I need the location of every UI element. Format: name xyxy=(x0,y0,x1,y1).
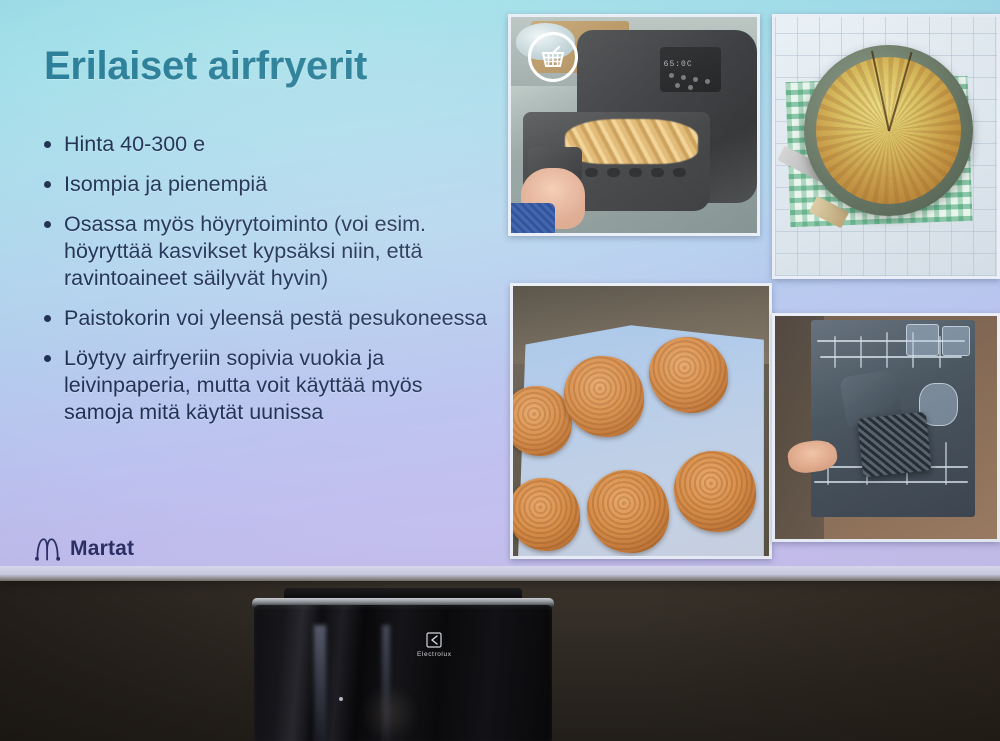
list-item: Löytyy airfryeriin sopivia vuokia ja lei… xyxy=(38,345,490,426)
electrolux-appliance: Electrolux xyxy=(248,588,558,741)
basket-icon xyxy=(528,32,578,82)
list-item: Hinta 40-300 e xyxy=(38,131,490,158)
air-fryer-with-fries-photo: 65:0C xyxy=(508,14,760,236)
martat-monogram-icon xyxy=(33,535,63,563)
basket-in-dishwasher-photo xyxy=(772,313,1000,542)
martat-logo: Martat xyxy=(33,535,134,563)
list-item: Osassa myös höyrytoiminto (voi esim. höy… xyxy=(38,211,490,292)
list-item: Paistokorin voi yleensä pestä pesukonees… xyxy=(38,305,490,332)
bullet-list: Hinta 40-300 e Isompia ja pienempiä Osas… xyxy=(38,131,490,439)
electrolux-logo-icon xyxy=(426,632,442,648)
electrolux-brand-text: Electrolux xyxy=(417,651,452,658)
martat-logo-text: Martat xyxy=(70,537,134,561)
screen-bottom-edge xyxy=(0,566,1000,581)
baked-frittata-photo xyxy=(772,14,1000,279)
electrolux-branding: Electrolux xyxy=(417,632,452,658)
list-item: Isompia ja pienempiä xyxy=(38,171,490,198)
page-title: Erilaiset airfryerit xyxy=(44,44,367,89)
projection-screen: Erilaiset airfryerit Hinta 40-300 e Isom… xyxy=(0,0,1000,580)
screenshot-stage: Erilaiset airfryerit Hinta 40-300 e Isom… xyxy=(0,0,1000,741)
patties-on-baking-paper-photo xyxy=(510,283,772,559)
